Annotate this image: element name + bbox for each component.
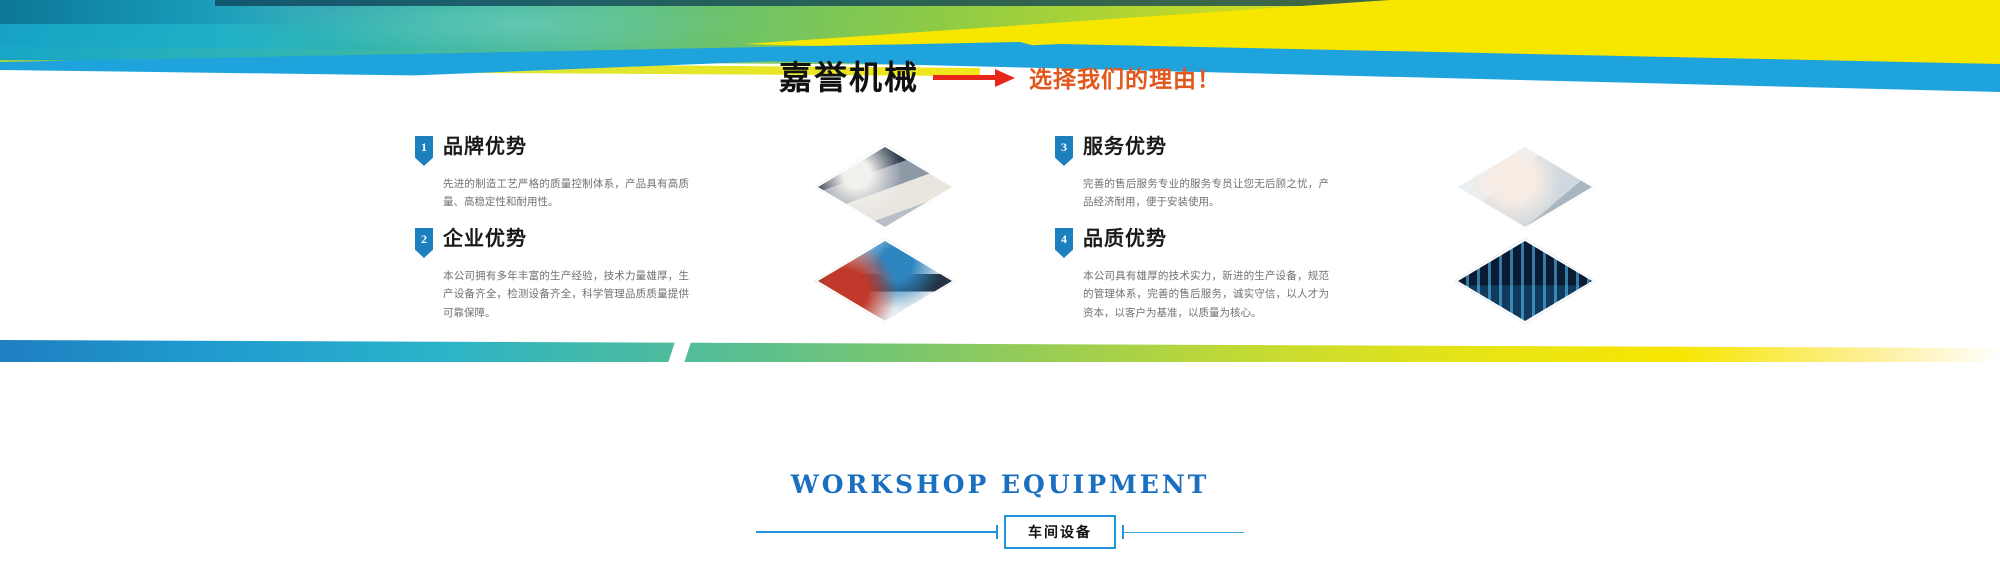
feature-4-head: 4 品质优势 (1055, 228, 1385, 258)
footer-line-left (756, 531, 996, 533)
feature-2-description: 本公司拥有多年丰富的生产经验，技术力量雄厚，生产设备齐全，检测设备齐全，科学管理… (443, 267, 689, 322)
banner-dark-top-streak (215, 0, 1415, 6)
feature-2-head: 2 企业优势 (415, 228, 745, 258)
footer-tick-left (996, 525, 998, 539)
footer-divider-row: 车间设备 (0, 515, 2000, 549)
footer-line-right (1124, 532, 1244, 533)
section-footer: WORKSHOP EQUIPMENT 车间设备 (0, 470, 2000, 549)
feature-4-image (1455, 238, 1595, 324)
feature-2-image (815, 238, 955, 324)
feature-item-2: 2 企业优势 本公司拥有多年丰富的生产经验，技术力量雄厚，生产设备齐全，检测设备… (415, 228, 745, 322)
feature-4-number-badge: 4 (1055, 228, 1073, 258)
footer-english-title: WORKSHOP EQUIPMENT (0, 470, 2000, 499)
headline-subtitle: 选择我们的理由！ (1029, 60, 1221, 94)
headline: 嘉誉机械 选择我们的理由！ (0, 60, 2000, 94)
feature-2-number-badge: 2 (415, 228, 433, 258)
feature-item-4: 4 品质优势 本公司具有雄厚的技术实力，新进的生产设备，规范的管理体系，完善的售… (1055, 228, 1385, 322)
footer-chinese-title: 车间设备 (1004, 515, 1116, 549)
feature-1-image (815, 144, 955, 230)
feature-1-number-badge: 1 (415, 136, 433, 166)
feature-1-description: 先进的制造工艺严格的质量控制体系，产品具有高质量、高稳定性和耐用性。 (443, 175, 689, 212)
feature-3-head: 3 服务优势 (1055, 136, 1385, 166)
page-title: 嘉誉机械 (779, 61, 919, 94)
feature-4-description: 本公司具有雄厚的技术实力，新进的生产设备，规范的管理体系，完善的售后服务，诚实守… (1083, 267, 1329, 322)
feature-item-3: 3 服务优势 完善的售后服务专业的服务专员让您无后顾之忧，产品经济耐用，便于安装… (1055, 136, 1385, 212)
right-arrow-icon (933, 67, 1015, 87)
feature-3-image (1455, 144, 1595, 230)
feature-2-title: 企业优势 (443, 227, 527, 249)
feature-3-title: 服务优势 (1083, 135, 1167, 157)
feature-1-title: 品牌优势 (443, 135, 527, 157)
feature-grid: 1 品牌优势 先进的制造工艺严格的质量控制体系，产品具有高质量、高稳定性和耐用性… (0, 128, 2000, 328)
feature-item-1: 1 品牌优势 先进的制造工艺严格的质量控制体系，产品具有高质量、高稳定性和耐用性… (415, 136, 745, 212)
bottom-gradient-rule (0, 340, 2000, 362)
feature-3-description: 完善的售后服务专业的服务专员让您无后顾之忧，产品经济耐用，便于安装使用。 (1083, 175, 1329, 212)
feature-1-head: 1 品牌优势 (415, 136, 745, 166)
feature-3-number-badge: 3 (1055, 136, 1073, 166)
feature-4-title: 品质优势 (1083, 227, 1167, 249)
page-root: 嘉誉机械 选择我们的理由！ 1 品牌优势 先进的制造工艺严格的质量控制体系，产品… (0, 0, 2000, 577)
